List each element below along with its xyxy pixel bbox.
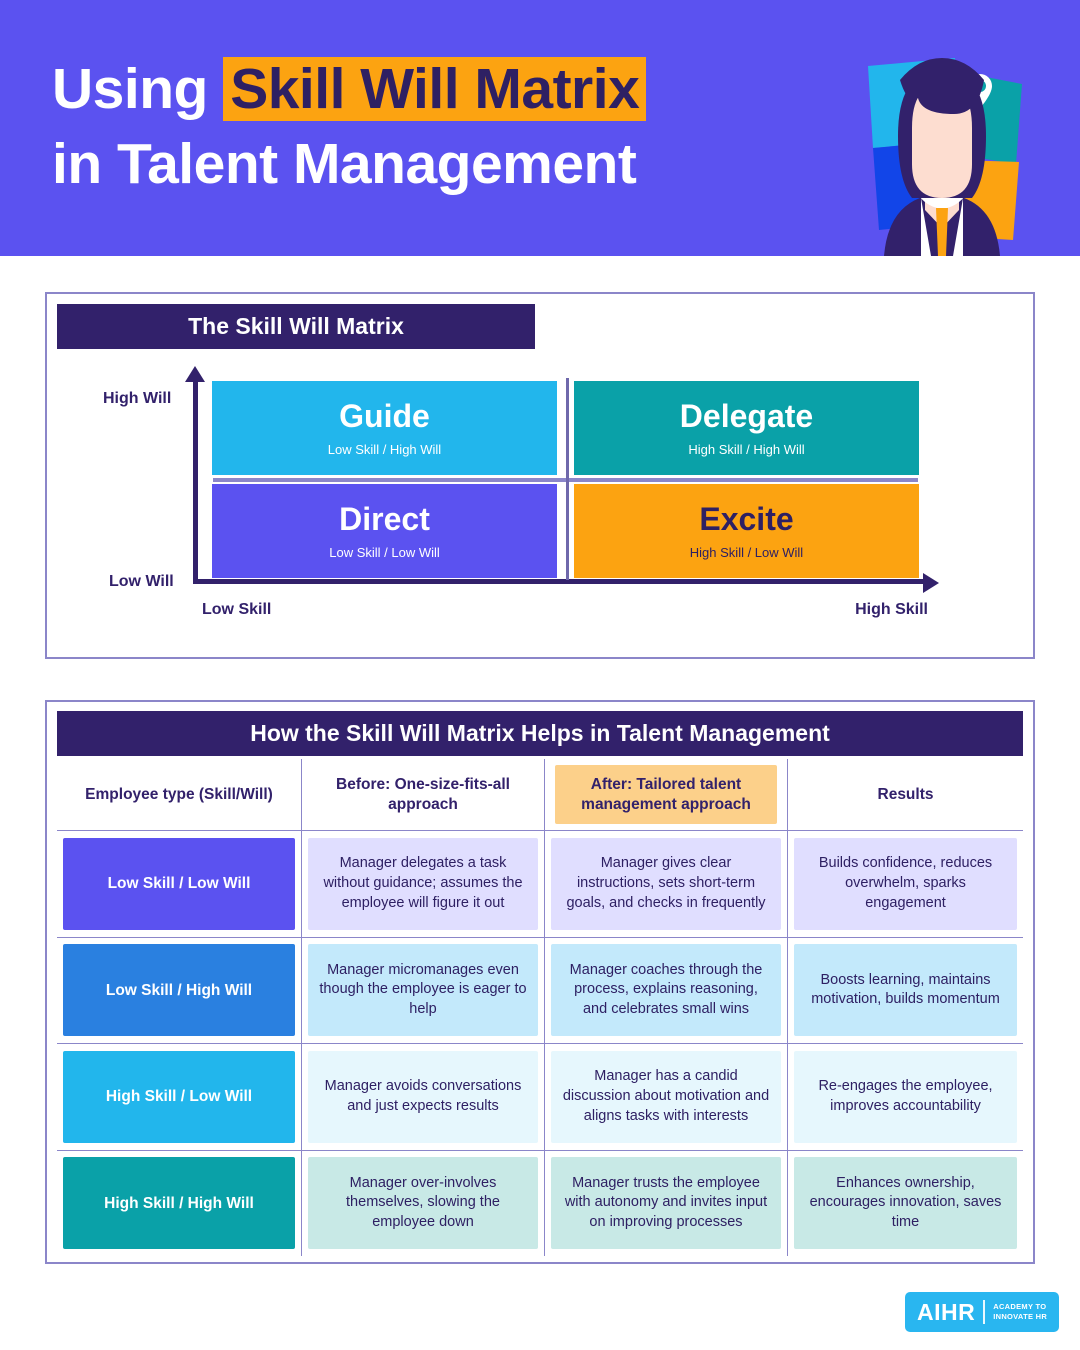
table-cell-before: Manager avoids conversations and just ex… <box>301 1044 544 1150</box>
matrix-chart: High Will Low Will Low Skill High Skill … <box>47 294 1037 661</box>
table-header-before-label: Before: One-size-fits-all approach <box>312 775 534 814</box>
table-header-employee-type-label: Employee type (Skill/Will) <box>85 785 273 804</box>
table-cell-results: Boosts learning, maintains motivation, b… <box>787 938 1023 1044</box>
employee-type-badge: High Skill / Low Will <box>63 1051 295 1143</box>
aihr-logo[interactable]: AIHR ACADEMY TO INNOVATE HR <box>905 1292 1059 1332</box>
before-text: Manager delegates a task without guidanc… <box>308 838 538 930</box>
aihr-logo-tagline: ACADEMY TO INNOVATE HR <box>993 1302 1047 1321</box>
aihr-tagline-line2: INNOVATE HR <box>993 1312 1047 1321</box>
quadrant-excite-subtitle: High Skill / Low Will <box>690 545 803 560</box>
table-cell-before: Manager delegates a task without guidanc… <box>301 831 544 937</box>
before-text: Manager micromanages even though the emp… <box>308 944 538 1036</box>
quadrant-guide[interactable]: Guide Low Skill / High Will <box>212 381 557 475</box>
comparison-table: Employee type (Skill/Will) Before: One-s… <box>57 759 1023 1256</box>
quadrant-delegate-title: Delegate <box>680 399 813 434</box>
axis-label-high-skill: High Skill <box>855 601 928 619</box>
y-axis-arrow-icon <box>185 366 205 382</box>
employee-type-badge: Low Skill / Low Will <box>63 838 295 930</box>
quadrant-direct[interactable]: Direct Low Skill / Low Will <box>212 484 557 578</box>
table-cell-after: Manager has a candid discussion about mo… <box>544 1044 787 1150</box>
table-row: High Skill / Low Will Manager avoids con… <box>57 1043 1023 1150</box>
results-text: Re-engages the employee, improves accoun… <box>794 1051 1017 1143</box>
before-text: Manager over-involves themselves, slowin… <box>308 1157 538 1249</box>
table-header-before: Before: One-size-fits-all approach <box>301 759 544 830</box>
axis-label-high-will: High Will <box>103 390 171 408</box>
quadrant-direct-subtitle: Low Skill / Low Will <box>329 545 440 560</box>
employee-type-badge: High Skill / High Will <box>63 1157 295 1249</box>
table-header-results: Results <box>787 759 1023 830</box>
table-cell-before: Manager micromanages even though the emp… <box>301 938 544 1044</box>
before-text: Manager avoids conversations and just ex… <box>308 1051 538 1143</box>
table-cell-results: Re-engages the employee, improves accoun… <box>787 1044 1023 1150</box>
quadrant-delegate[interactable]: Delegate High Skill / High Will <box>574 381 919 475</box>
after-text: Manager coaches through the process, exp… <box>551 944 781 1036</box>
table-cell-employee-type: High Skill / High Will <box>57 1151 301 1257</box>
page-title-part2: in Talent Management <box>52 132 636 196</box>
table-cell-after: Manager trusts the employee with autonom… <box>544 1151 787 1257</box>
table-header-results-label: Results <box>878 785 934 804</box>
table-header-after: After: Tailored talent management approa… <box>544 759 787 830</box>
x-axis-arrow-icon <box>923 573 939 593</box>
person-tie <box>936 208 948 256</box>
page-title-highlight: Skill Will Matrix <box>223 57 646 121</box>
table-cell-employee-type: Low Skill / High Will <box>57 938 301 1044</box>
hero-illustration <box>820 40 1050 256</box>
table-cell-results: Builds confidence, reduces overwhelm, sp… <box>787 831 1023 937</box>
axis-label-low-will: Low Will <box>109 573 174 591</box>
page-title-part1: Using <box>52 57 223 121</box>
quadrant-excite[interactable]: Excite High Skill / Low Will <box>574 484 919 578</box>
after-text: Manager has a candid discussion about mo… <box>551 1051 781 1143</box>
aihr-tagline-line1: ACADEMY TO <box>993 1302 1046 1311</box>
table-header-employee-type: Employee type (Skill/Will) <box>57 759 301 830</box>
results-text: Enhances ownership, encourages innovatio… <box>794 1157 1017 1249</box>
table-cell-employee-type: Low Skill / Low Will <box>57 831 301 937</box>
quadrant-direct-title: Direct <box>339 502 430 537</box>
results-text: Boosts learning, maintains motivation, b… <box>794 944 1017 1036</box>
page-title: Using Skill Will Matrix in Talent Manage… <box>52 52 812 202</box>
table-cell-before: Manager over-involves themselves, slowin… <box>301 1151 544 1257</box>
matrix-vertical-divider <box>566 378 569 580</box>
table-card: How the Skill Will Matrix Helps in Talen… <box>45 700 1035 1264</box>
table-row: Low Skill / Low Will Manager delegates a… <box>57 830 1023 937</box>
after-text: Manager trusts the employee with autonom… <box>551 1157 781 1249</box>
table-cell-results: Enhances ownership, encourages innovatio… <box>787 1151 1023 1257</box>
logo-divider <box>983 1300 985 1324</box>
x-axis-line <box>193 579 928 584</box>
table-row: High Skill / High Will Manager over-invo… <box>57 1150 1023 1257</box>
quadrant-excite-title: Excite <box>699 502 793 537</box>
table-header-after-label: After: Tailored talent management approa… <box>555 765 777 824</box>
table-cell-after: Manager coaches through the process, exp… <box>544 938 787 1044</box>
y-axis-line <box>193 377 198 581</box>
table-header-row: Employee type (Skill/Will) Before: One-s… <box>57 759 1023 830</box>
after-text: Manager gives clear instructions, sets s… <box>551 838 781 930</box>
quadrant-guide-subtitle: Low Skill / High Will <box>328 442 441 457</box>
aihr-logo-mark: AIHR <box>917 1299 975 1326</box>
table-cell-after: Manager gives clear instructions, sets s… <box>544 831 787 937</box>
table-row: Low Skill / High Will Manager micromanag… <box>57 937 1023 1044</box>
axis-label-low-skill: Low Skill <box>202 601 271 619</box>
table-band-title: How the Skill Will Matrix Helps in Talen… <box>57 711 1023 756</box>
quadrant-guide-title: Guide <box>339 399 430 434</box>
page-header: Using Skill Will Matrix in Talent Manage… <box>0 0 1080 256</box>
table-cell-employee-type: High Skill / Low Will <box>57 1044 301 1150</box>
employee-type-badge: Low Skill / High Will <box>63 944 295 1036</box>
quadrant-delegate-subtitle: High Skill / High Will <box>688 442 804 457</box>
matrix-card: The Skill Will Matrix High Will Low Will… <box>45 292 1035 659</box>
results-text: Builds confidence, reduces overwhelm, sp… <box>794 838 1017 930</box>
